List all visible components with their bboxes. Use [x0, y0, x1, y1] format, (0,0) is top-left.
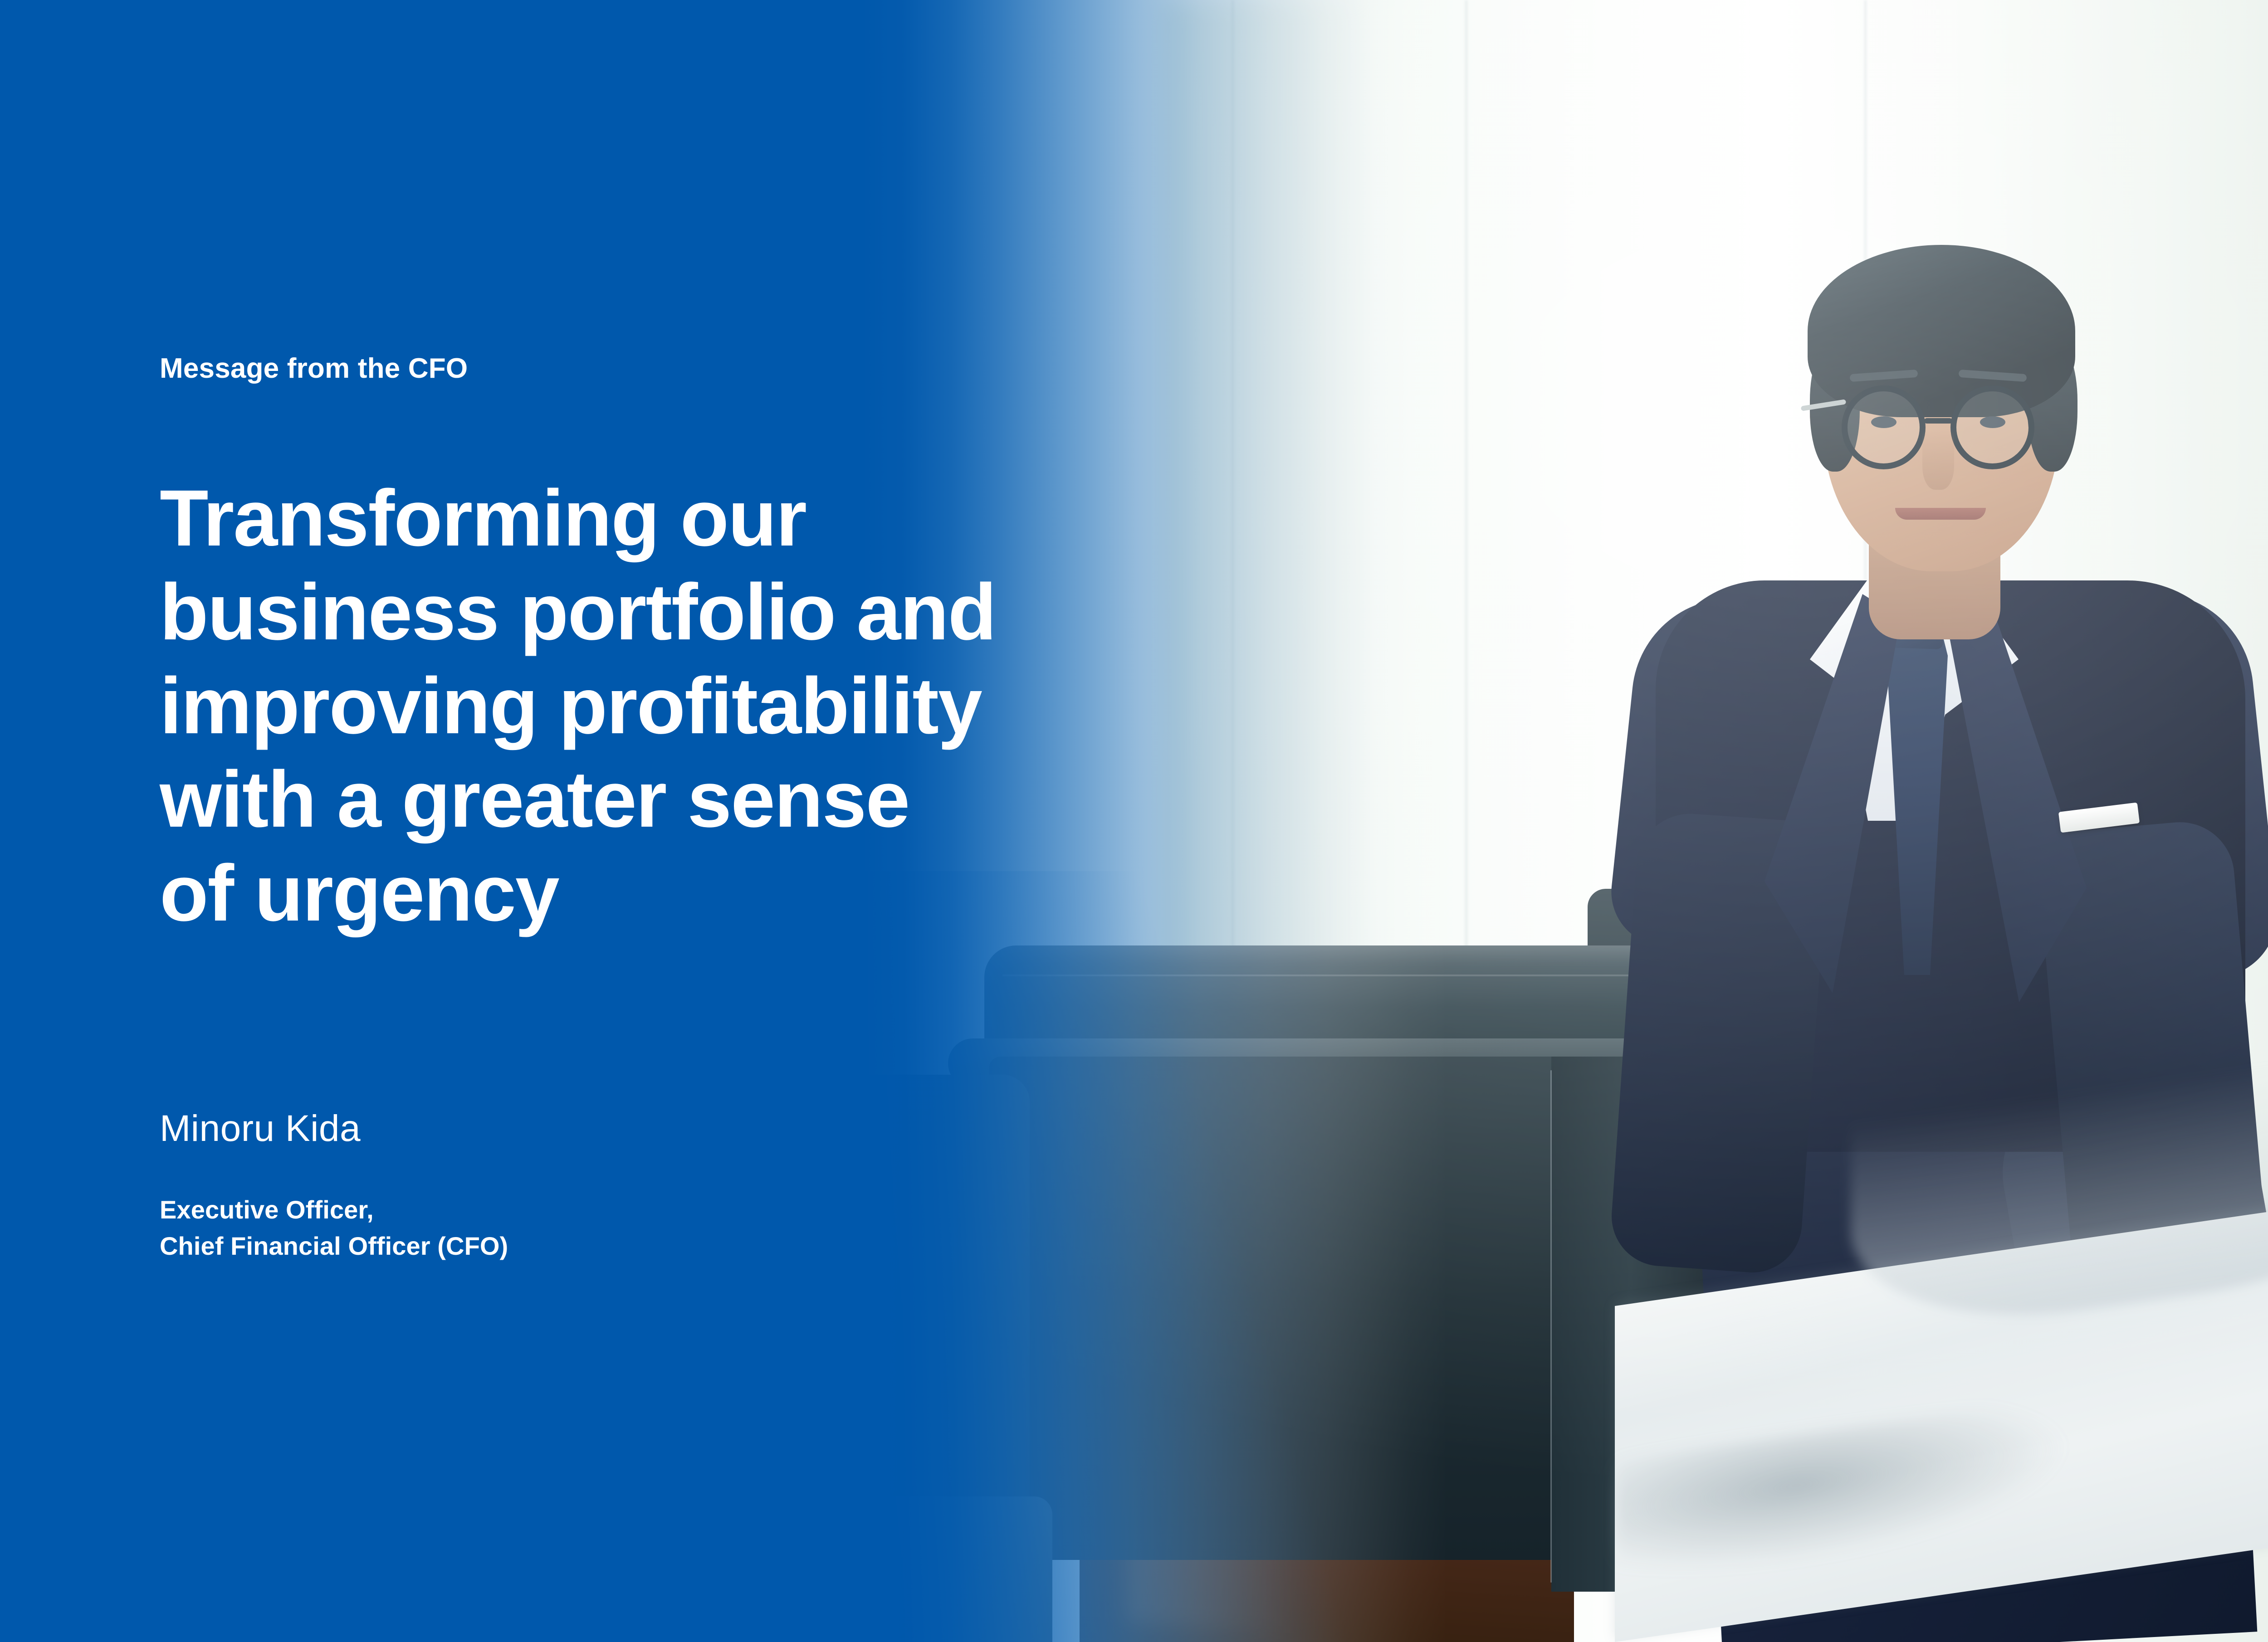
- page-title: Transforming our business portfolio and …: [160, 472, 1022, 940]
- mouth: [1895, 508, 1986, 520]
- cfo-message-hero: Message from the CFO Transforming our bu…: [0, 0, 2268, 1642]
- eyeglasses-lens-right: [1950, 385, 2034, 469]
- person-title: Executive Officer, Chief Financial Offic…: [160, 1192, 508, 1264]
- hair: [1808, 245, 2075, 417]
- eyeglasses-bridge: [1924, 418, 1952, 424]
- nose: [1922, 431, 1954, 490]
- hero-copy-block: Message from the CFO Transforming our bu…: [160, 0, 1112, 1642]
- eyeglasses-lens-left: [1842, 385, 1926, 469]
- person-name: Minoru Kida: [160, 1110, 361, 1147]
- eyebrow-label: Message from the CFO: [160, 355, 468, 383]
